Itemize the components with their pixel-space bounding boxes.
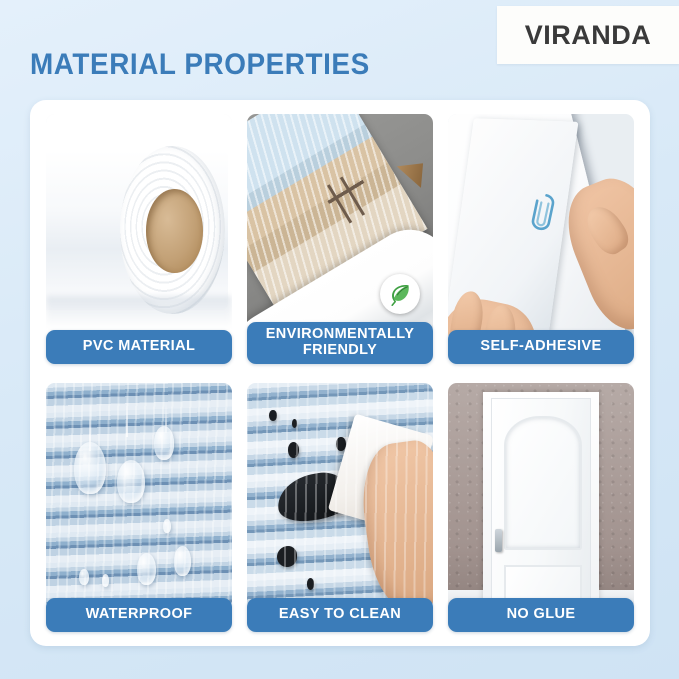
water-drop-icon [46,383,232,611]
feature-cell-no-glue: NO GLUE [448,383,634,633]
easy-to-clean-image [247,383,433,611]
feature-label-environmentally-friendly: ENVIRONMENTALLY FRIENDLY [247,322,433,363]
feature-label-pvc-material: PVC MATERIAL [46,330,232,364]
feature-label-no-glue: NO GLUE [448,598,634,632]
door-icon [448,383,634,611]
no-glue-door-image [448,383,634,611]
brand-logo-text: VIRANDA [525,20,652,51]
feature-cell-waterproof: WATERPROOF [46,383,232,633]
wipe-icon [247,383,433,611]
feature-cell-environmentally-friendly: ENVIRONMENTALLY FRIENDLY [247,114,433,364]
feature-grid: PVC MATERIAL [46,114,634,632]
feature-cell-self-adhesive: SELF-ADHESIVE [448,114,634,364]
product-feature-infographic: MATERIAL PROPERTIES VIRANDA PVC MATERIAL [0,0,679,679]
feature-label-easy-to-clean: EASY TO CLEAN [247,598,433,632]
feature-card: PVC MATERIAL [30,100,650,646]
waterproof-image [46,383,232,611]
feature-cell-pvc-material: PVC MATERIAL [46,114,232,364]
feature-cell-easy-to-clean: EASY TO CLEAN [247,383,433,633]
feature-label-waterproof: WATERPROOF [46,598,232,632]
page-title: MATERIAL PROPERTIES [30,48,370,82]
eco-wallpaper-image [247,114,433,334]
roll-icon [46,114,232,342]
pvc-roll-image [46,114,232,342]
self-adhesive-image [448,114,634,342]
feature-label-self-adhesive: SELF-ADHESIVE [448,330,634,364]
brand-logo: VIRANDA [497,6,679,64]
